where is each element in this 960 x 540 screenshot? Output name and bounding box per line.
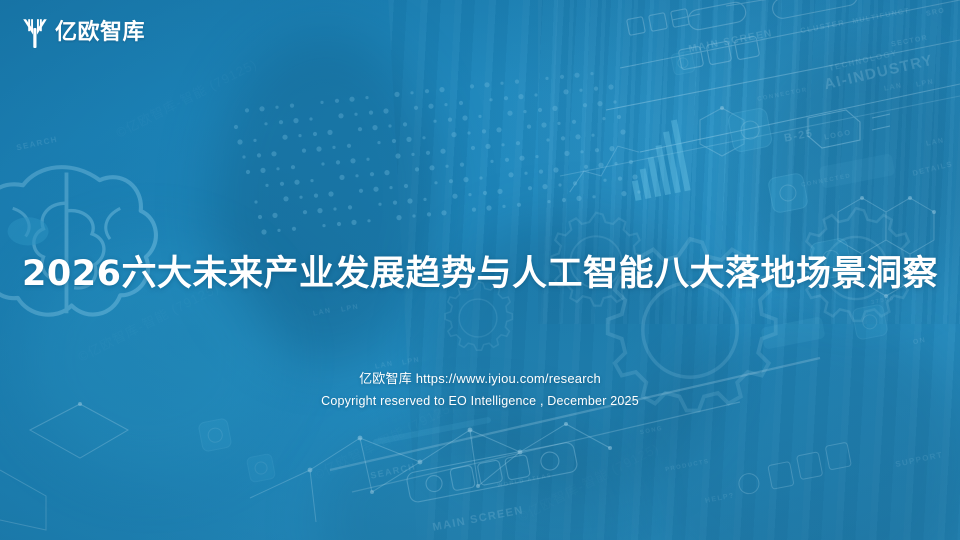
copyright-line: Copyright reserved to EO Intelligence , … xyxy=(0,394,960,408)
eo-intelligence-sprout-logo-icon xyxy=(20,17,50,49)
slide-title: 2026六大未来产业发展趋势与人工智能八大落地场景洞察 xyxy=(0,245,960,296)
cover-slide: MAIN SCREENCLUSTERMULTIFUNCTSROSECTORTEC… xyxy=(0,0,960,540)
brand-logo[interactable]: 亿欧智库 xyxy=(20,17,145,49)
brand-logo-text: 亿欧智库 xyxy=(55,22,145,44)
brand-url-line: 亿欧智库 https://www.iyiou.com/research xyxy=(0,368,960,387)
brand-name-inline: 亿欧智库 xyxy=(359,372,412,387)
research-url[interactable]: https://www.iyiou.com/research xyxy=(416,371,601,386)
